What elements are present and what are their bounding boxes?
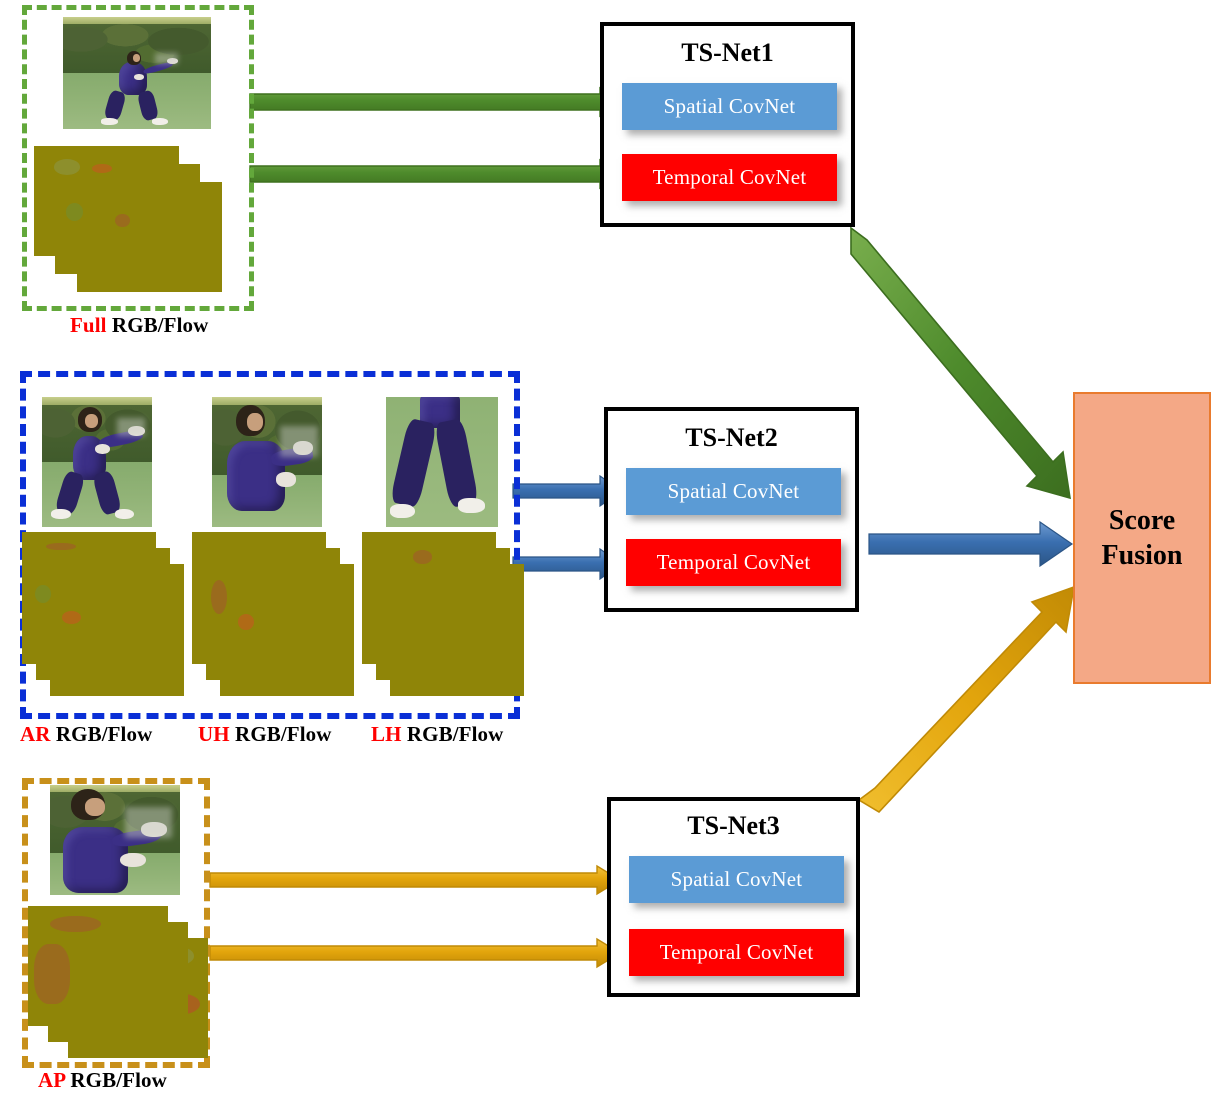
caption-lh-tag: LH	[371, 722, 402, 746]
caption-full-rest: RGB/Flow	[107, 313, 209, 337]
tsnet1-title: TS-Net1	[604, 38, 851, 68]
arrow-tsnet3-to-fusion	[859, 587, 1074, 812]
caption-lh: LH RGB/Flow	[371, 722, 503, 747]
caption-ar-rest: RGB/Flow	[51, 722, 153, 746]
tsnet1-temporal-covnet[interactable]: Temporal CovNet	[622, 154, 837, 201]
arrow-ap-rgb-to-tsnet3	[210, 866, 620, 894]
caption-full-tag: Full	[70, 313, 107, 337]
tsnet3-temporal-covnet[interactable]: Temporal CovNet	[629, 929, 844, 976]
score-fusion-box[interactable]: Score Fusion	[1073, 392, 1211, 684]
tsnet3-box[interactable]: TS-Net3 Spatial CovNet Temporal CovNet	[607, 797, 860, 997]
tsnet1-spatial-covnet[interactable]: Spatial CovNet	[622, 83, 837, 130]
rgb-frame-uh	[212, 397, 322, 527]
rgb-frame-full	[63, 17, 211, 129]
caption-uh: UH RGB/Flow	[198, 722, 332, 747]
tsnet2-spatial-covnet[interactable]: Spatial CovNet	[626, 468, 841, 515]
caption-ap: AP RGB/Flow	[38, 1068, 167, 1093]
diagram-canvas: Full RGB/Flow TS-Net1 Spatial CovNet Tem…	[0, 0, 1230, 1095]
flow-stack-lh	[362, 532, 532, 704]
flow-stack-full	[32, 146, 232, 296]
flow-stack-uh	[192, 532, 362, 704]
rgb-frame-ar	[42, 397, 152, 527]
caption-ar: AR RGB/Flow	[20, 722, 152, 747]
rgb-frame-ap	[50, 785, 180, 895]
caption-lh-rest: RGB/Flow	[402, 722, 504, 746]
caption-uh-tag: UH	[198, 722, 230, 746]
arrow-tsnet1-to-fusion	[851, 228, 1070, 498]
flow-stack-ap	[28, 906, 210, 1064]
caption-uh-rest: RGB/Flow	[230, 722, 332, 746]
tsnet3-title: TS-Net3	[611, 811, 856, 841]
caption-ap-rest: RGB/Flow	[65, 1068, 167, 1092]
score-fusion-line1: Score	[1102, 503, 1183, 538]
tsnet2-title: TS-Net2	[608, 423, 855, 453]
arrow-full-flow-to-tsnet1	[250, 160, 620, 188]
caption-ap-tag: AP	[38, 1068, 65, 1092]
caption-ar-tag: AR	[20, 722, 51, 746]
arrow-full-rgb-to-tsnet1	[250, 88, 620, 116]
tsnet3-spatial-covnet[interactable]: Spatial CovNet	[629, 856, 844, 903]
arrow-ap-flow-to-tsnet3	[210, 939, 620, 967]
tsnet1-box[interactable]: TS-Net1 Spatial CovNet Temporal CovNet	[600, 22, 855, 227]
caption-full: Full RGB/Flow	[70, 313, 208, 338]
tsnet2-box[interactable]: TS-Net2 Spatial CovNet Temporal CovNet	[604, 407, 859, 612]
rgb-frame-lh	[386, 397, 498, 527]
flow-stack-ar	[22, 532, 192, 704]
score-fusion-label: Score Fusion	[1102, 503, 1183, 573]
arrow-tsnet2-to-fusion	[869, 522, 1072, 566]
score-fusion-line2: Fusion	[1102, 538, 1183, 573]
tsnet2-temporal-covnet[interactable]: Temporal CovNet	[626, 539, 841, 586]
